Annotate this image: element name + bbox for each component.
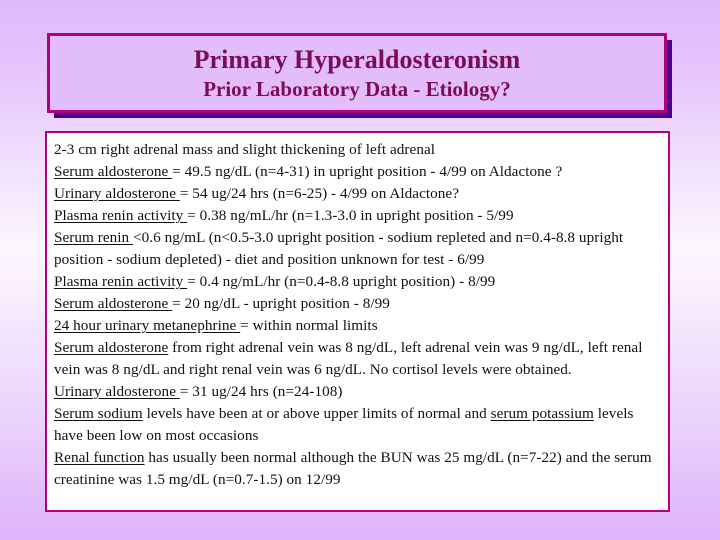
line-text: = 49.5 ng/dL (n=4-31) in upright positio… [172, 163, 562, 180]
line-plasma-renin-activity-8-99: Plasma renin activity = 0.4 ng/mL/hr (n=… [54, 271, 661, 293]
line-text: = 54 ug/24 hrs (n=6-25) - 4/99 on Aldact… [180, 185, 459, 202]
line-serum-sodium-potassium: Serum sodium levels have been at or abov… [54, 403, 661, 447]
line-text: 2-3 cm right adrenal mass and slight thi… [54, 141, 435, 158]
line-text: = 20 ng/dL - upright position - 8/99 [172, 295, 390, 312]
lab-term: Plasma renin activity [54, 207, 187, 224]
line-text: <0.6 ng/mL (n<0.5-3.0 upright position -… [54, 229, 623, 268]
title-box: Primary Hyperaldosteronism Prior Laborat… [47, 33, 667, 113]
line-serum-aldosterone-4-99: Serum aldosterone = 49.5 ng/dL (n=4-31) … [54, 161, 661, 183]
slide: Primary Hyperaldosteronism Prior Laborat… [0, 0, 720, 540]
line-plasma-renin-activity-5-99: Plasma renin activity = 0.38 ng/mL/hr (n… [54, 205, 661, 227]
slide-title-primary: Primary Hyperaldosteronism [194, 44, 521, 76]
lab-term: Serum aldosterone [54, 339, 168, 356]
line-text: = 0.4 ng/mL/hr (n=0.4-8.8 upright positi… [187, 273, 495, 290]
line-text: has usually been normal although the BUN… [54, 449, 652, 488]
line-serum-renin-6-99: Serum renin <0.6 ng/mL (n<0.5-3.0 uprigh… [54, 227, 661, 271]
lab-term: Serum sodium [54, 405, 143, 422]
line-adrenal-mass: 2-3 cm right adrenal mass and slight thi… [54, 139, 661, 161]
slide-title-subtitle: Prior Laboratory Data - Etiology? [203, 76, 511, 103]
line-urinary-metanephrine: 24 hour urinary metanephrine = within no… [54, 315, 661, 337]
lab-term: Serum aldosterone [54, 295, 172, 312]
lab-term: Plasma renin activity [54, 273, 187, 290]
content-lines: 2-3 cm right adrenal mass and slight thi… [47, 133, 668, 491]
lab-term: Urinary aldosterone [54, 383, 180, 400]
line-text: = 31 ug/24 hrs (n=24-108) [180, 383, 343, 400]
line-text: = 0.38 ng/mL/hr (n=1.3-3.0 in upright po… [187, 207, 513, 224]
line-adrenal-vein-sampling: Serum aldosterone from right adrenal vei… [54, 337, 661, 381]
line-urinary-aldosterone-4-99: Urinary aldosterone = 54 ug/24 hrs (n=6-… [54, 183, 661, 205]
lab-term: 24 hour urinary metanephrine [54, 317, 240, 334]
lab-term: Urinary aldosterone [54, 185, 180, 202]
line-text: = within normal limits [240, 317, 378, 334]
content-box: 2-3 cm right adrenal mass and slight thi… [45, 131, 670, 512]
lab-term-secondary: serum potassium [491, 405, 594, 422]
line-serum-aldosterone-8-99: Serum aldosterone = 20 ng/dL - upright p… [54, 293, 661, 315]
lab-term: Serum aldosterone [54, 163, 172, 180]
line-urinary-aldosterone-31: Urinary aldosterone = 31 ug/24 hrs (n=24… [54, 381, 661, 403]
line-text: levels have been at or above upper limit… [143, 405, 491, 422]
line-renal-function: Renal function has usually been normal a… [54, 447, 661, 491]
lab-term: Renal function [54, 449, 145, 466]
lab-term: Serum renin [54, 229, 133, 246]
